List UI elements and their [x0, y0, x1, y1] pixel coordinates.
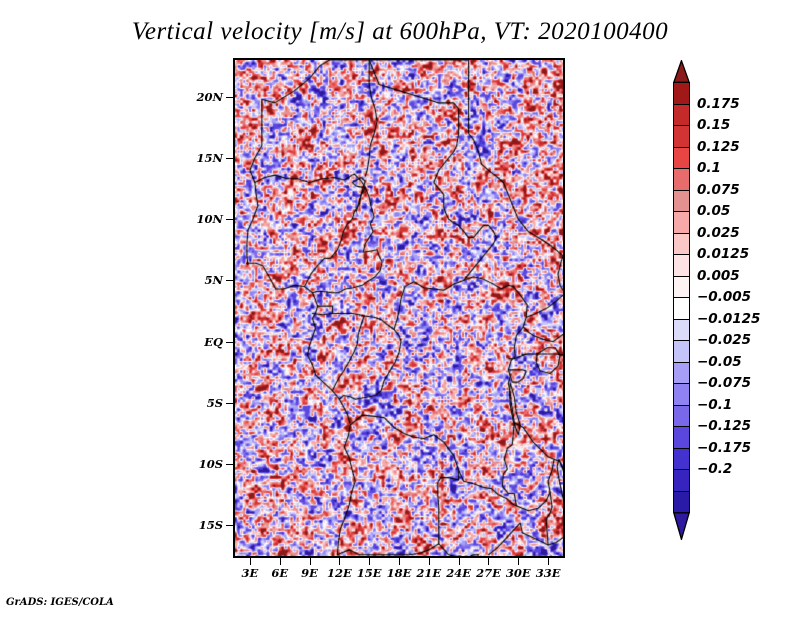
colorbar-tick-label: 0.15	[697, 117, 730, 133]
colorbar-tick-label: −0.075	[697, 375, 751, 391]
y-axis-label: EQ	[204, 335, 223, 349]
x-tick-mark	[399, 558, 400, 565]
y-tick-mark	[226, 525, 233, 526]
colorbar-segment	[673, 254, 690, 277]
colorbar-segment	[673, 276, 690, 299]
colorbar-cap-bottom-outline	[673, 512, 690, 540]
x-tick-mark	[429, 558, 430, 565]
colorbar-tick-label: 0.175	[697, 96, 740, 112]
colorbar-tick-label: 0.05	[697, 203, 730, 219]
y-tick-mark	[226, 342, 233, 343]
x-tick-mark	[310, 558, 311, 565]
colorbar-segment	[673, 125, 690, 148]
country-borders-overlay	[235, 60, 563, 556]
y-axis-label: 15N	[196, 151, 223, 165]
colorbar-tick-label: 0.025	[697, 225, 740, 241]
y-tick-mark	[226, 158, 233, 159]
colorbar-segment	[673, 233, 690, 256]
x-tick-mark	[250, 558, 251, 565]
map-plot-area	[233, 58, 565, 558]
colorbar-segment	[673, 448, 690, 471]
x-tick-mark	[548, 558, 549, 565]
colorbar-segment	[673, 426, 690, 449]
x-tick-mark	[518, 558, 519, 565]
colorbar-tick-label: −0.175	[697, 440, 751, 456]
colorbar-tick-label: 0.1	[697, 160, 721, 176]
colorbar-segment	[673, 147, 690, 170]
colorbar-segment	[673, 340, 690, 363]
y-axis-label: 15S	[199, 518, 223, 532]
y-tick-mark	[226, 219, 233, 220]
x-tick-mark	[459, 558, 460, 565]
footer-credit: GrADS: IGES/COLA	[6, 597, 114, 608]
colorbar-tick-label: −0.1	[697, 397, 732, 413]
colorbar-tick-label: 0.0125	[697, 246, 749, 262]
colorbar-segment	[673, 82, 690, 105]
colorbar-segment	[673, 362, 690, 385]
colorbar-segment	[673, 190, 690, 213]
colorbar-tick-label: 0.075	[697, 182, 740, 198]
colorbar-segment	[673, 104, 690, 127]
colorbar-segment	[673, 383, 690, 406]
y-axis-label: 5S	[207, 396, 223, 410]
colorbar-tick-label: 0.005	[697, 268, 740, 284]
colorbar-segment	[673, 469, 690, 492]
colorbar-tick-label: −0.0125	[697, 311, 760, 327]
colorbar-segment	[673, 491, 690, 514]
y-tick-mark	[226, 280, 233, 281]
colorbar-segment	[673, 168, 690, 191]
y-axis-label: 5N	[204, 273, 223, 287]
x-axis-label: 33E	[518, 566, 578, 580]
colorbar-tick-label: 0.125	[697, 139, 740, 155]
colorbar-segment	[673, 211, 690, 234]
colorbar-segment	[673, 405, 690, 428]
x-tick-mark	[280, 558, 281, 565]
colorbar-tick-label: −0.125	[697, 418, 751, 434]
y-axis-label: 10N	[196, 212, 223, 226]
page-title: Vertical velocity [m/s] at 600hPa, VT: 2…	[0, 18, 800, 46]
colorbar-tick-label: −0.2	[697, 461, 732, 477]
x-tick-mark	[488, 558, 489, 565]
y-tick-mark	[226, 97, 233, 98]
colorbar[interactable]	[673, 82, 690, 512]
y-axis-label: 20N	[196, 90, 223, 104]
x-tick-mark	[369, 558, 370, 565]
colorbar-tick-label: −0.005	[697, 289, 751, 305]
x-tick-mark	[339, 558, 340, 565]
y-axis-label: 10S	[199, 457, 223, 471]
colorbar-cap-top-outline	[673, 60, 690, 83]
colorbar-segment	[673, 297, 690, 320]
y-tick-mark	[226, 403, 233, 404]
colorbar-tick-label: −0.025	[697, 332, 751, 348]
y-tick-mark	[226, 464, 233, 465]
colorbar-segment	[673, 319, 690, 342]
colorbar-tick-label: −0.05	[697, 354, 742, 370]
